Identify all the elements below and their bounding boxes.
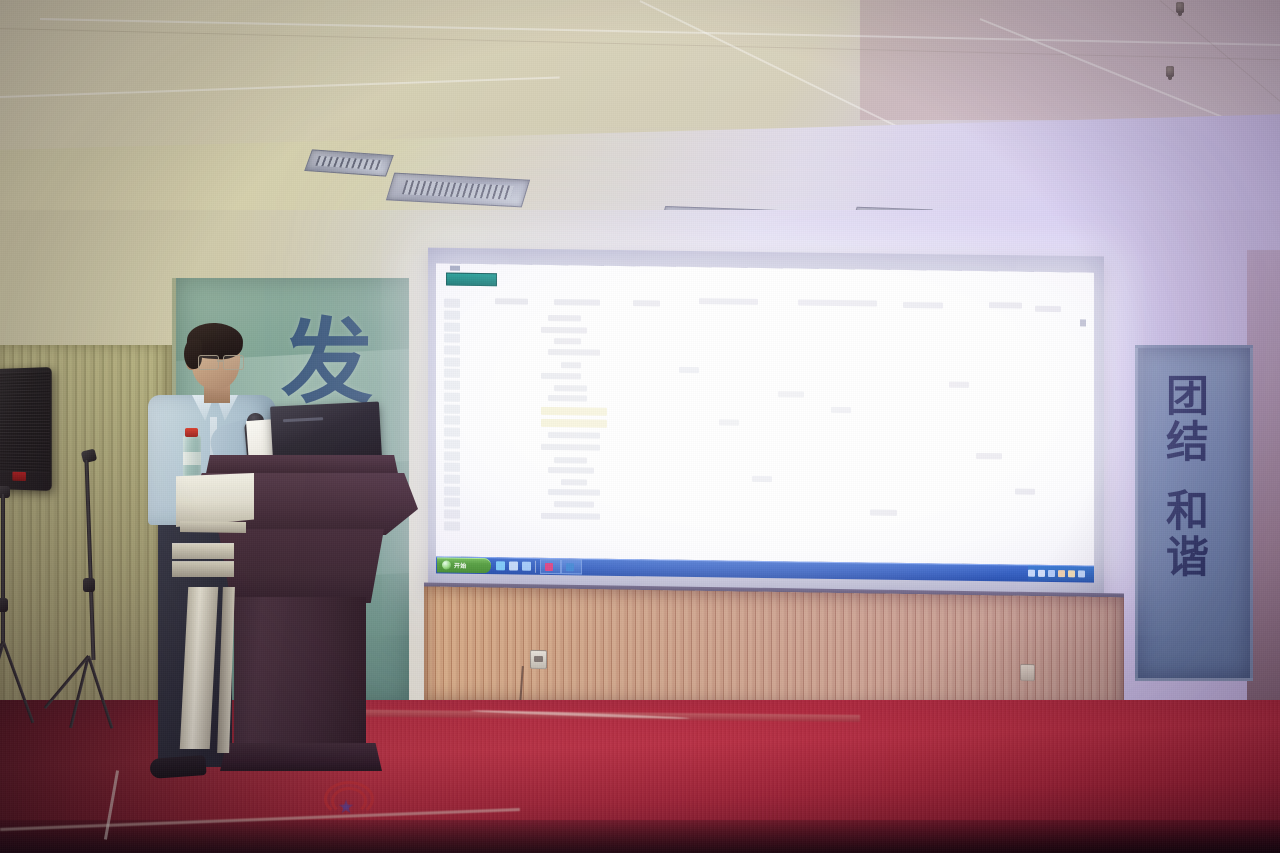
podium-light-strip (217, 587, 235, 753)
start-button[interactable]: 开始 (437, 557, 491, 573)
media-player-icon[interactable] (509, 561, 518, 570)
podium-side-trim (180, 521, 246, 533)
speaker-brand-badge (12, 472, 26, 481)
speaker-podium (178, 455, 422, 805)
wall-power-socket (1020, 664, 1035, 681)
conference-hall-photo: 发 团结 和谐 (0, 0, 1280, 853)
system-tray[interactable] (1028, 566, 1094, 582)
podium-base (220, 743, 382, 771)
tray-ime-icon[interactable] (1048, 570, 1055, 577)
start-button-label: 开始 (454, 561, 466, 570)
podium-column (234, 597, 366, 747)
tray-update-icon[interactable] (1078, 570, 1085, 577)
right-blue-banner: 团结 和谐 (1135, 345, 1253, 681)
word-icon (566, 563, 574, 571)
show-desktop-icon[interactable] (496, 561, 505, 570)
sprinkler-head (1176, 2, 1184, 13)
taskbar-task-word[interactable] (561, 559, 582, 574)
pa-speaker-cabinet (0, 367, 52, 491)
stage-front-edge (0, 820, 1280, 853)
excel-icon (545, 562, 553, 570)
podium-drawer-plate (172, 561, 234, 577)
podium-light-strip (180, 587, 218, 749)
projection-screen[interactable] (436, 263, 1094, 565)
podium-mid-panel (218, 529, 384, 603)
taskbar-separator (535, 560, 536, 572)
ceiling-tile-seam (0, 76, 560, 98)
banner-character-fa: 发 (281, 316, 373, 408)
slat-wall-tint (424, 587, 1124, 716)
tray-volume-icon[interactable] (1038, 570, 1045, 577)
microphone-stand-left (0, 486, 62, 746)
spreadsheet-grid (436, 263, 1094, 565)
banner-text-hexie: 和谐 (1166, 489, 1222, 582)
speaker-grill (0, 371, 50, 472)
tray-network-icon[interactable] (1028, 570, 1035, 577)
browser-icon[interactable] (522, 562, 531, 571)
tray-chat-icon[interactable] (1068, 570, 1075, 577)
water-bottle-cap (185, 428, 198, 437)
podium-emblem (320, 775, 372, 821)
podium-side-panel (176, 473, 254, 527)
tray-antivirus-icon[interactable] (1058, 570, 1065, 577)
ceiling-upper-slab (860, 0, 1280, 120)
sprinkler-head (1166, 66, 1174, 77)
wall-power-socket (530, 650, 547, 669)
quick-launch-bar[interactable] (496, 561, 531, 570)
podium-drawer-plate (172, 543, 234, 559)
taskbar-task-excel[interactable] (540, 559, 561, 574)
banner-text-tuanjie: 团结 (1166, 374, 1222, 467)
windows-logo-icon (442, 560, 451, 569)
eyeglasses-icon (198, 355, 242, 368)
